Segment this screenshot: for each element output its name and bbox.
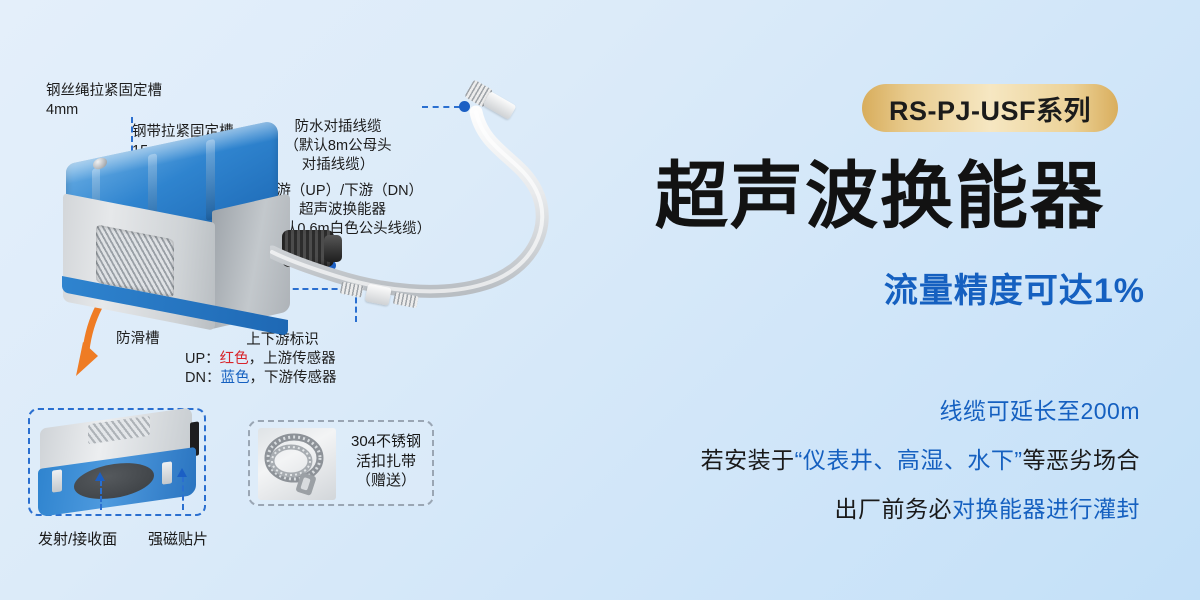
updn-dn-color-word: 蓝色: [220, 370, 249, 386]
inset-bottom-face: [28, 408, 206, 516]
feature-2-segment-0: 出厂前务必: [835, 496, 953, 522]
updn-up-rest: ，上游传感器: [249, 351, 336, 367]
page-subtitle: 流量精度可达1%: [655, 263, 1145, 312]
updn-up-color-word: 红色: [220, 351, 249, 367]
magnet-patch-left: [52, 469, 62, 492]
product-series-label: RS-PJ-USF系列: [889, 89, 1091, 128]
feature-0-segment-0: 线缆可延长至200m: [939, 398, 1140, 424]
updn-up-code: UP：: [185, 351, 220, 367]
feature-1-segment-1: “仪表井、高湿、水下”: [795, 447, 1023, 473]
updn-row-up: UP：红色，上游传感器: [185, 350, 380, 369]
waterproof-cable: [270, 70, 570, 320]
feature-cable-length: 线缆可延长至200m: [600, 392, 1140, 426]
feature-harsh-environment: 若安装于“仪表井、高湿、水下”等恶劣场合: [600, 441, 1140, 475]
callout-wire-rope-slot: 钢丝绳拉紧固定槽 4mm: [46, 82, 162, 120]
leader-line-emit-face: [100, 480, 102, 510]
leader-arrow-magnet: [177, 468, 187, 477]
magnet-patch-right: [162, 461, 172, 484]
banner-canvas: 钢丝绳拉紧固定槽 4mm 钢带拉紧固定槽 15mm 防水对插线缆 （默认8m公母…: [0, 0, 1200, 600]
label-magnet-patch: 强磁贴片: [148, 528, 208, 549]
updn-dn-rest: ，下游传感器: [249, 370, 336, 386]
leader-line-magnet: [182, 476, 184, 510]
page-title: 超声波换能器: [655, 160, 1145, 233]
updn-dn-code: DN：: [185, 370, 220, 386]
feature-1-segment-2: 等恶劣场合: [1023, 447, 1141, 473]
callout-updn-marking: 上下游标识 UP：红色，上游传感器 DN：蓝色，下游传感器: [185, 331, 380, 388]
leader-arrow-emit-face: [95, 472, 105, 481]
hose-clamp-icon: [258, 428, 336, 500]
product-series-badge: RS-PJ-USF系列: [862, 84, 1118, 132]
connector-inline-ribs-left: [340, 282, 364, 298]
connector-inline-ribs-right: [393, 292, 419, 308]
clamp-label: 304不锈钢 活扣扎带 （赠送）: [342, 432, 430, 491]
feature-2-segment-1: 对换能器进行灌封: [952, 496, 1140, 522]
feature-1-segment-0: 若安装于: [701, 447, 795, 473]
feature-potting-required: 出厂前务必对换能器进行灌封: [600, 490, 1140, 524]
inset-stainless-clamp: 304不锈钢 活扣扎带 （赠送）: [248, 420, 434, 506]
label-emit-receive-face: 发射/接收面: [38, 528, 117, 549]
clamp-photo: [258, 428, 336, 500]
updn-row-dn: DN：蓝色，下游传感器: [185, 369, 380, 388]
